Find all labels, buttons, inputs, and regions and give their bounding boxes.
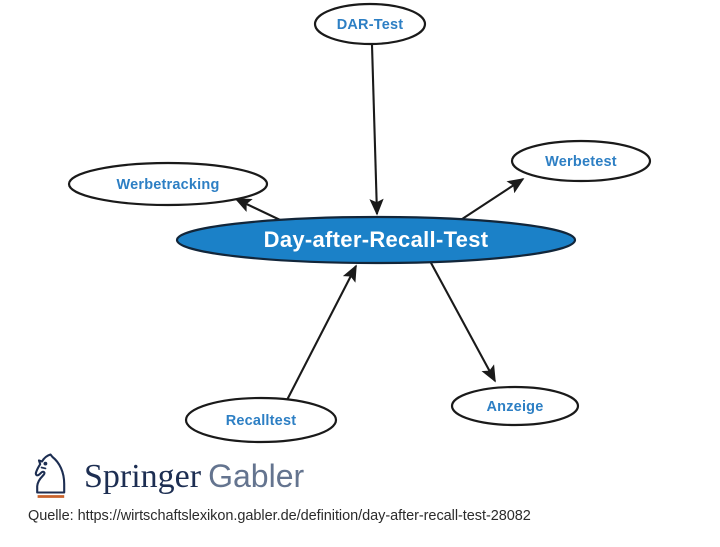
springer-gabler-logo: Springer Gabler	[28, 448, 304, 500]
logo-word-springer: Springer	[84, 458, 201, 496]
diagram-canvas: DAR-Test Werbetracking Werbetest Anzeige…	[0, 0, 720, 547]
node-werbetracking[interactable]: Werbetracking	[69, 163, 267, 205]
node-recalltest[interactable]: Recalltest	[186, 398, 336, 442]
node-werbetracking-label: Werbetracking	[116, 177, 219, 193]
node-day-after-recall-test[interactable]: Day-after-Recall-Test	[177, 217, 575, 263]
node-anzeige-label: Anzeige	[487, 399, 544, 415]
edge-recalltest-to-center	[287, 266, 356, 400]
node-dar-test-label: DAR-Test	[337, 17, 404, 33]
node-werbetest[interactable]: Werbetest	[512, 141, 650, 181]
node-recalltest-label: Recalltest	[226, 413, 297, 429]
node-werbetest-label: Werbetest	[545, 154, 617, 170]
edge-center-to-werbetest	[453, 179, 523, 225]
node-day-after-recall-test-label: Day-after-Recall-Test	[264, 227, 489, 252]
edge-dar-test-to-center	[372, 45, 377, 214]
logo-wordmark: Springer Gabler	[84, 458, 304, 500]
edge-center-to-anzeige	[430, 261, 495, 381]
springer-knight-icon	[28, 450, 74, 500]
node-anzeige[interactable]: Anzeige	[452, 387, 578, 425]
node-dar-test[interactable]: DAR-Test	[315, 4, 425, 44]
logo-word-gabler: Gabler	[208, 458, 304, 495]
source-caption: Quelle: https://wirtschaftslexikon.gable…	[28, 508, 531, 524]
